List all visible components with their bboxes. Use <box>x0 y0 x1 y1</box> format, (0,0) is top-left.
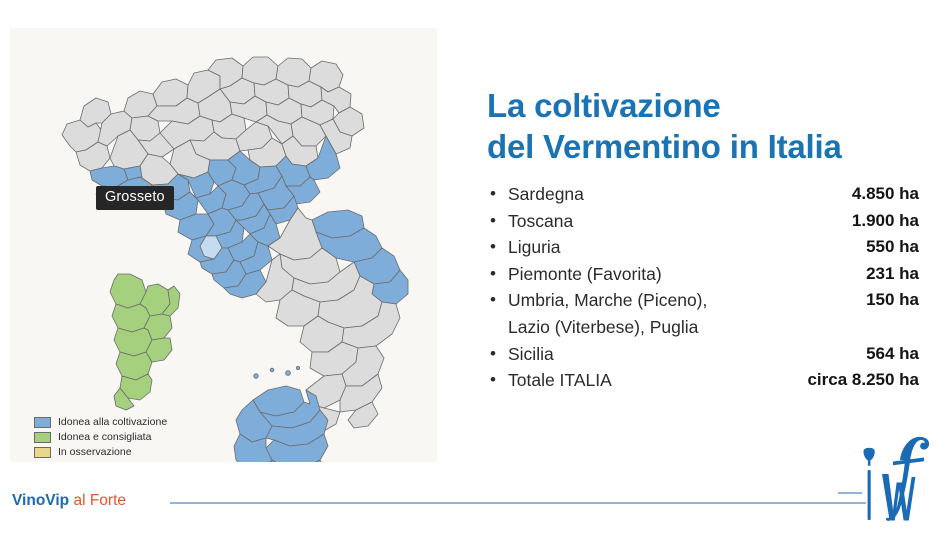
legend-item-idonea-e-consigliata: Idonea e consigliata <box>34 430 167 445</box>
legend-label: Idonea e consigliata <box>58 432 151 443</box>
legend-swatch-green <box>34 432 51 443</box>
bullet-icon: • <box>487 367 508 394</box>
list-item-left: • Toscana <box>487 208 838 235</box>
footer-brand-sub: al Forte <box>73 492 126 509</box>
list-item: • Sardegna 4.850 ha <box>487 181 919 208</box>
italy-map-panel[interactable]: Grosseto Idonea alla coltivazione Idonea… <box>10 28 437 462</box>
region-label: Piemonte (Favorita) <box>508 261 662 288</box>
region-value: 1.900 ha <box>838 208 919 235</box>
bullet-icon: • <box>487 234 508 261</box>
map-region-sardinia-green <box>110 274 180 410</box>
list-item-left: • Sardegna <box>487 181 838 208</box>
region-label: Sardegna <box>508 181 584 208</box>
legend-swatch-yellow <box>34 447 51 458</box>
region-value: 550 ha <box>852 234 919 261</box>
region-value: 4.850 ha <box>838 181 919 208</box>
bullet-icon: • <box>487 261 508 288</box>
region-label-line-2: Lazio (Viterbese), Puglia <box>508 314 707 341</box>
bullet-icon: • <box>487 341 508 368</box>
region-label: Sicilia <box>508 341 554 368</box>
page-title: La coltivazione del Vermentino in Italia <box>487 86 927 168</box>
page-title-line-2: del Vermentino in Italia <box>487 127 927 168</box>
list-item-left: • Piemonte (Favorita) <box>487 261 852 288</box>
legend-item-mista: Mista <box>34 460 167 462</box>
list-item: • Sicilia 564 ha <box>487 341 919 368</box>
list-item: • Toscana 1.900 ha <box>487 208 919 235</box>
grosseto-map-callout[interactable]: Grosseto <box>96 186 174 210</box>
list-item-left: • Liguria <box>487 234 852 261</box>
region-value: 150 ha <box>852 287 919 314</box>
list-item: • Liguria 550 ha <box>487 234 919 261</box>
region-label: Umbria, Marche (Piceno), Lazio (Viterbes… <box>508 287 707 340</box>
map-legend: Idonea alla coltivazione Idonea e consig… <box>34 415 167 462</box>
legend-swatch-blue <box>34 417 51 428</box>
region-value: 564 ha <box>852 341 919 368</box>
footer-brand: VinoVip al Forte <box>12 493 126 509</box>
page-title-line-1: La coltivazione <box>487 86 927 127</box>
list-item-left: • Umbria, Marche (Piceno), Lazio (Viterb… <box>487 287 852 340</box>
map-region-sicily-blue <box>234 366 328 462</box>
region-label: Totale ITALIA <box>508 367 612 394</box>
legend-label: Idonea alla coltivazione <box>58 417 167 428</box>
bullet-icon: • <box>487 181 508 208</box>
region-label-line-1: Umbria, Marche (Piceno), <box>508 287 707 314</box>
legend-item-idonea-alla-coltivazione: Idonea alla coltivazione <box>34 415 167 430</box>
list-item-left: • Sicilia <box>487 341 852 368</box>
region-value: circa 8.250 ha <box>793 367 919 394</box>
footer-brand-main: VinoVip <box>12 492 69 509</box>
list-item: • Umbria, Marche (Piceno), Lazio (Viterb… <box>487 287 919 340</box>
region-label: Liguria <box>508 234 561 261</box>
italy-map-graphic <box>10 28 437 462</box>
legend-item-in-osservazione: In osservazione <box>34 445 167 460</box>
slide-root: Grosseto Idonea alla coltivazione Idonea… <box>0 0 950 535</box>
footer-divider <box>170 502 866 504</box>
list-item: • Totale ITALIA circa 8.250 ha <box>487 367 919 394</box>
legend-label: In osservazione <box>58 447 132 458</box>
region-hectares-list: • Sardegna 4.850 ha • Toscana 1.900 ha •… <box>487 181 919 394</box>
vinovip-logo <box>838 430 938 522</box>
bullet-icon: • <box>487 287 508 314</box>
list-item: • Piemonte (Favorita) 231 ha <box>487 261 919 288</box>
bullet-icon: • <box>487 208 508 235</box>
region-value: 231 ha <box>852 261 919 288</box>
region-label: Toscana <box>508 208 573 235</box>
list-item-left: • Totale ITALIA <box>487 367 793 394</box>
